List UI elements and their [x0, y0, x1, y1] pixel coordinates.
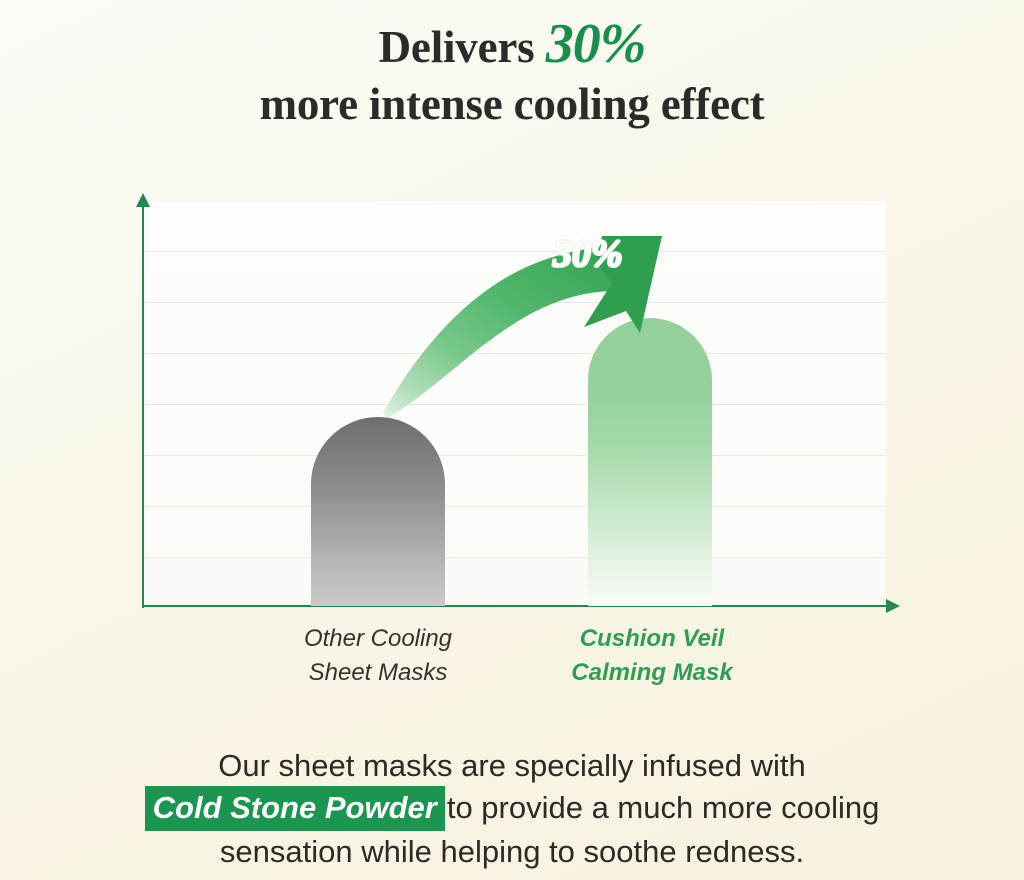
arrow-percent-label: 30% [553, 232, 623, 276]
caption-line-2-rest: to provide a much more cooling [447, 790, 880, 825]
category-label-line-2: Calming Mask [512, 656, 792, 690]
gridline [144, 455, 886, 456]
category-label-cushion-veil-calming-mask: Cushion Veil Calming Mask [512, 622, 792, 690]
cold-stone-powder-highlight: Cold Stone Powder [145, 786, 445, 831]
caption-line-1: Our sheet masks are specially infused wi… [0, 745, 1024, 786]
caption-block: Our sheet masks are specially infused wi… [0, 745, 1024, 873]
x-axis [142, 605, 888, 607]
gridline [144, 557, 886, 558]
y-axis-arrowhead-icon [136, 193, 150, 207]
gridline [144, 506, 886, 507]
category-label-line-2: Sheet Masks [238, 656, 518, 690]
comparison-bar-chart: 30% Other Cooling Sheet Masks Cushion Ve… [0, 0, 1024, 720]
category-label-other-cooling-sheet-masks: Other Cooling Sheet Masks [238, 622, 518, 690]
y-axis [142, 204, 144, 608]
caption-line-2: Cold Stone Powderto provide a much more … [0, 786, 1024, 831]
x-axis-arrowhead-icon [886, 599, 900, 613]
bar-other-cooling-sheet-masks [311, 417, 445, 606]
category-label-line-1: Cushion Veil [512, 622, 792, 656]
caption-line-3: sensation while helping to soothe rednes… [0, 831, 1024, 872]
category-label-line-1: Other Cooling [238, 622, 518, 656]
growth-arrow-icon [340, 215, 740, 435]
